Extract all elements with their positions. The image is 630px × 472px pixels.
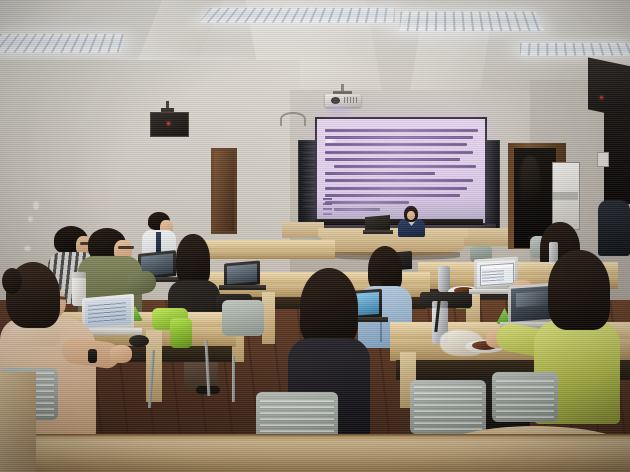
thermos-flask-steel-small [438, 266, 450, 292]
foreground-table-edge [0, 436, 630, 472]
attendee-hair [176, 234, 210, 286]
ceiling-light-icon [0, 34, 123, 52]
thermos-cap [72, 272, 86, 278]
laptop-black-2-screen [227, 264, 257, 285]
chair-slats [496, 376, 554, 418]
laptop-presenter-base [363, 230, 393, 234]
ceiling-light-icon [399, 12, 545, 31]
projector-vent [344, 97, 358, 103]
whiteboard-band [552, 192, 578, 200]
indicator-led-icon [600, 96, 603, 99]
projector-lens-icon [331, 97, 340, 104]
chair-slats [414, 384, 482, 430]
ceiling-light-icon [199, 8, 395, 23]
ceiling-light-icon [520, 43, 630, 56]
wristwatch [88, 349, 97, 363]
attendee-person-right-edge [598, 200, 630, 256]
projection-screen [317, 119, 485, 223]
attendee-hand [110, 345, 132, 363]
attendee-hair [300, 268, 358, 346]
cable-hook-icon [280, 112, 306, 126]
laptop-white-document-lines [88, 301, 126, 322]
wall-blemish [28, 216, 33, 222]
attendee-hair [548, 250, 610, 330]
door-left-panel [214, 151, 234, 231]
wall-blemish [33, 201, 39, 210]
eyeglasses-icon [118, 246, 134, 249]
chair [222, 300, 264, 336]
projection-screen-frame [315, 117, 487, 225]
classroom-photo [0, 0, 630, 472]
front-counter-right [462, 228, 508, 246]
wall-blemish [24, 246, 31, 251]
screen-reflection [516, 291, 550, 307]
doorway-dark-shape [520, 156, 540, 204]
attendee-tie [156, 232, 161, 252]
desk-row-far-front [205, 250, 335, 259]
chair-leg [232, 356, 235, 402]
presenter-face [407, 211, 415, 220]
eyeglasses-case [129, 335, 149, 347]
laptop-black-2-base [219, 285, 266, 290]
macbook-center-window-rows [482, 268, 504, 282]
attendee-hair-bun [2, 268, 22, 294]
projector-beam-glow [328, 106, 352, 116]
bag-green-neon-2 [170, 318, 192, 348]
power-led-icon [167, 122, 170, 125]
wall-outlet-icon [597, 152, 609, 167]
foreground-table-left [0, 372, 36, 472]
